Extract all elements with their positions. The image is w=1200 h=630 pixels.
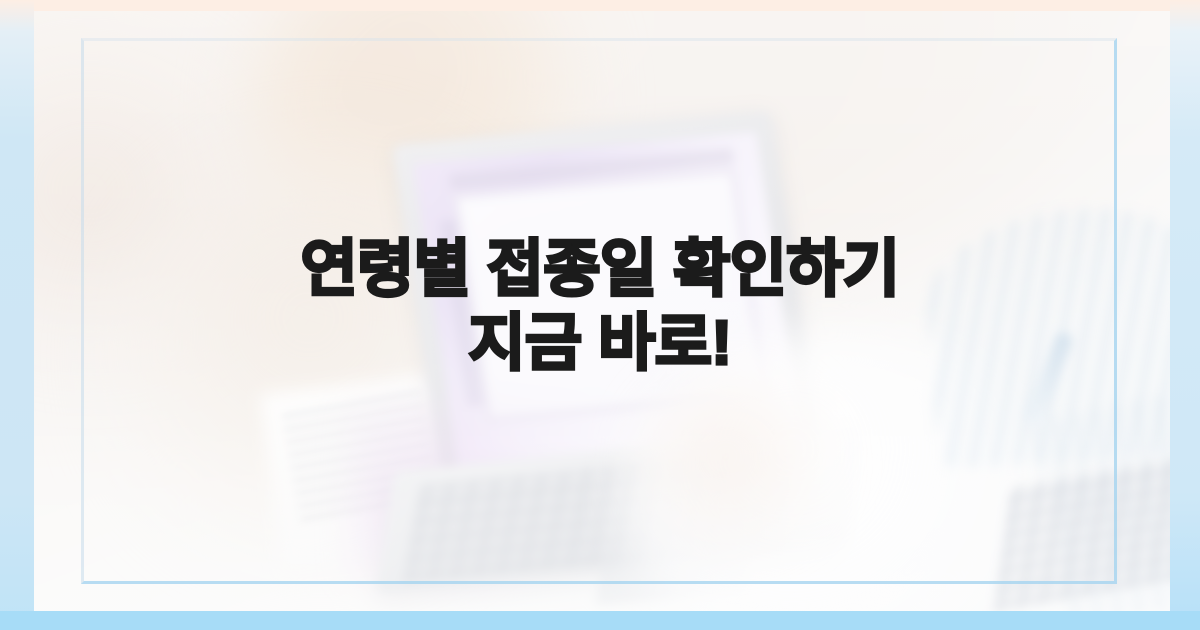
right-color-band xyxy=(1170,0,1200,630)
bottom-color-band xyxy=(0,611,1200,630)
background-photo xyxy=(0,0,1200,630)
thumbnail-canvas: 연령별 접종일 확인하기 지금 바로! xyxy=(0,0,1200,630)
left-color-band xyxy=(0,0,34,630)
top-color-band xyxy=(0,0,1200,11)
photo-brightness-overlay xyxy=(0,0,1200,630)
